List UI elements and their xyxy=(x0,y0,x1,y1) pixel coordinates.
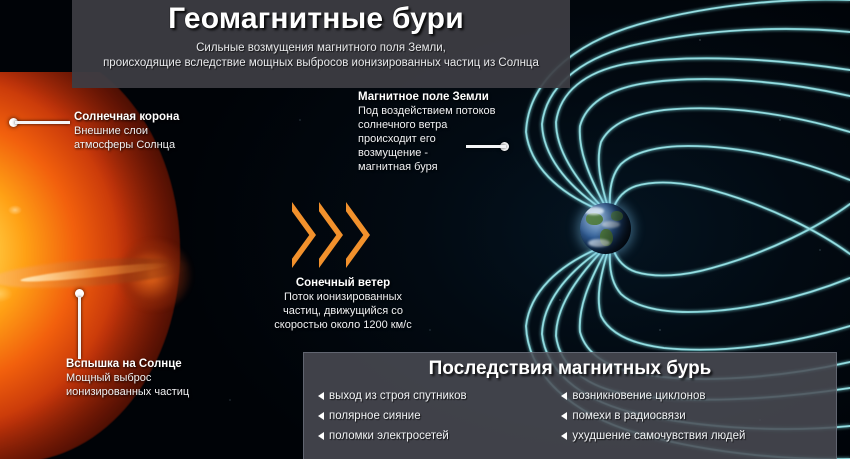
callout-corona-line-2: атмосферы Солнца xyxy=(74,138,264,152)
consequences-column-left: выход из строя спутников полярное сияние… xyxy=(312,386,555,446)
list-item-label: возникновение циклонов xyxy=(572,386,705,406)
consequences-columns: выход из строя спутников полярное сияние… xyxy=(304,386,836,446)
callout-field-line-1: Под воздействием потоков xyxy=(358,104,538,118)
callout-leader-flare xyxy=(78,297,81,359)
earth-terminator xyxy=(580,203,631,254)
list-item-label: поломки электросетей xyxy=(329,426,449,446)
list-item: ухудшение самочувствия людей xyxy=(555,426,828,446)
geomagnetic-storms-infographic: Геомагнитные бури Сильные возмущения маг… xyxy=(0,0,850,459)
list-item: возникновение циклонов xyxy=(555,386,828,406)
list-item: полярное сияние xyxy=(312,406,555,426)
callout-field-line-3: происходит его xyxy=(358,132,538,146)
solar-wind-arrows xyxy=(292,202,370,268)
earth-globe-icon xyxy=(580,203,631,254)
callout-solar-wind: Сонечный ветер Поток ионизированных част… xyxy=(248,276,438,332)
consequences-panel: Последствия магнитных бурь выход из стро… xyxy=(303,352,837,459)
list-item: выход из строя спутников xyxy=(312,386,555,406)
consequences-title: Последствия магнитных бурь xyxy=(304,358,836,380)
triangle-right-icon xyxy=(561,412,567,420)
triangle-right-icon xyxy=(561,432,567,440)
list-item-label: помехи в радиосвязи xyxy=(572,406,685,426)
page-subtitle: Сильные возмущения магнитного поля Земли… xyxy=(82,41,560,71)
callout-flare-line-1: Мощный выброс xyxy=(66,371,266,385)
callout-corona-title: Солнечная корона xyxy=(74,110,264,124)
callout-solar-flare: Вспышка на Солнце Мощный выброс ионизиро… xyxy=(66,357,266,399)
callout-field-line-4: возмущение - xyxy=(358,146,538,160)
chevron-right-icon xyxy=(292,202,316,268)
callout-field-line-2: солнечного ветра xyxy=(358,118,538,132)
chevron-right-icon xyxy=(319,202,343,268)
header-panel: Геомагнитные бури Сильные возмущения маг… xyxy=(72,0,570,88)
consequences-column-right: возникновение циклонов помехи в радиосвя… xyxy=(555,386,828,446)
callout-wind-line-3: скоростью около 1200 км/с xyxy=(248,318,438,332)
list-item-label: полярное сияние xyxy=(329,406,421,426)
triangle-right-icon xyxy=(561,392,567,400)
callout-corona: Солнечная корона Внешние слои атмосферы … xyxy=(74,110,264,152)
callout-magnetic-field: Магнитное поле Земли Под воздействием по… xyxy=(358,90,538,174)
list-item: поломки электросетей xyxy=(312,426,555,446)
callout-wind-title: Сонечный ветер xyxy=(248,276,438,290)
callout-leader-corona xyxy=(15,121,70,124)
callout-flare-title: Вспышка на Солнце xyxy=(66,357,266,371)
callout-flare-line-2: ионизированных частиц xyxy=(66,385,266,399)
triangle-right-icon xyxy=(318,392,324,400)
triangle-right-icon xyxy=(318,432,324,440)
callout-field-line-5: магнитная буря xyxy=(358,160,538,174)
subtitle-line-2: происходящие вследствие мощных выбросов … xyxy=(82,56,560,71)
list-item-label: выход из строя спутников xyxy=(329,386,467,406)
callout-wind-line-2: частиц, движущийся со xyxy=(248,304,438,318)
callout-field-title: Магнитное поле Земли xyxy=(358,90,538,104)
chevron-right-icon xyxy=(346,202,370,268)
triangle-right-icon xyxy=(318,412,324,420)
list-item-label: ухудшение самочувствия людей xyxy=(572,426,745,446)
page-title: Геомагнитные бури xyxy=(72,2,560,36)
callout-corona-line-1: Внешние слои xyxy=(74,124,264,138)
callout-wind-line-1: Поток ионизированных xyxy=(248,290,438,304)
list-item: помехи в радиосвязи xyxy=(555,406,828,426)
subtitle-line-1: Сильные возмущения магнитного поля Земли… xyxy=(82,41,560,56)
